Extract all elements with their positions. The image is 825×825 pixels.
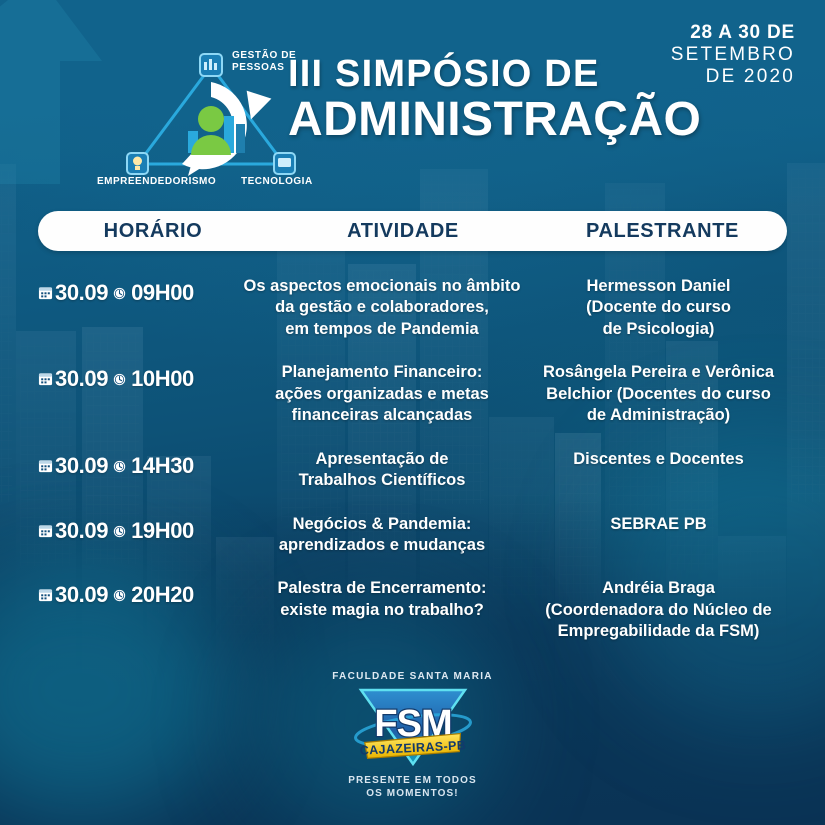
schedule-date-text: 30.09 (55, 518, 108, 544)
schedule-time-text: 20H20 (131, 582, 194, 608)
schedule-date-text: 30.09 (55, 366, 108, 392)
poster-title-block: III SIMPÓSIO DE ADMINISTRAÇÃO (288, 55, 708, 145)
column-header-palestrante: PALESTRANTE (538, 220, 787, 243)
column-header-atividade: ATIVIDADE (268, 220, 538, 243)
schedule-activity-cell: Negócios & Pandemia:aprendizados e mudan… (234, 514, 530, 557)
schedule-row: 30.0919H00Negócios & Pandemia:aprendizad… (38, 514, 787, 557)
schedule-activity-line: ações organizadas e metas (234, 384, 530, 405)
clock-icon (113, 366, 126, 392)
clock-icon (113, 280, 126, 306)
column-header-horario: HORÁRIO (38, 220, 268, 243)
schedule-speaker-cell: Discentes e Docentes (530, 449, 787, 470)
schedule-speaker-line: de Administração) (530, 405, 787, 426)
clock-icon (113, 453, 126, 479)
event-edition-title: III SIMPÓSIO DE (288, 55, 708, 93)
schedule-row: 30.0920H20Palestra de Encerramento:exist… (38, 578, 787, 642)
schedule-rows: 30.0909H00Os aspectos emocionais no âmbi… (38, 276, 787, 665)
schedule-activity-line: da gestão e colaboradores, (234, 297, 530, 318)
schedule-speaker-line: de Psicologia) (530, 319, 787, 340)
schedule-activity-line: aprendizados e mudanças (234, 535, 530, 556)
schedule-time-cell: 30.0920H20 (38, 578, 234, 608)
schedule-speaker-line: Empregabilidade da FSM) (530, 621, 787, 642)
event-date-month: SETEMBRO (671, 44, 795, 66)
schedule-speaker-line: Hermesson Daniel (530, 276, 787, 297)
calendar-icon (38, 582, 53, 608)
schedule-speaker-line: Discentes e Docentes (530, 449, 787, 470)
schedule-activity-line: Planejamento Financeiro: (234, 362, 530, 383)
logo-label-empreendedorismo: EMPREENDEDORISMO (97, 176, 216, 186)
schedule-speaker-cell: Rosângela Pereira e VerônicaBelchior (Do… (530, 362, 787, 426)
schedule-speaker-line: Belchior (Docentes do curso (530, 384, 787, 405)
schedule-speaker-cell: Hermesson Daniel(Docente do cursode Psic… (530, 276, 787, 340)
poster-canvas: GESTÃO DE PESSOAS EMPREENDEDORISMO TECNO… (0, 0, 825, 825)
schedule-time-cell: 30.0919H00 (38, 514, 234, 544)
schedule-time-cell: 30.0909H00 (38, 276, 234, 306)
schedule-date-text: 30.09 (55, 582, 108, 608)
event-date-days: 28 A 30 DE (671, 22, 795, 44)
fsm-slogan-line-1: PRESENTE EM TODOS (348, 775, 477, 788)
schedule-time-text: 19H00 (131, 518, 194, 544)
schedule-activity-line: Negócios & Pandemia: (234, 514, 530, 535)
logo-label-gestao-l2: PESSOAS (232, 62, 285, 73)
schedule-time-text: 14H30 (131, 453, 194, 479)
schedule-speaker-line: (Docente do curso (530, 297, 787, 318)
schedule-activity-line: Apresentação de (234, 449, 530, 470)
schedule-activity-line: Palestra de Encerramento: (234, 578, 530, 599)
schedule-time-cell: 30.0910H00 (38, 362, 234, 392)
schedule-speaker-line: Rosângela Pereira e Verônica (530, 362, 787, 383)
fsm-footer-logo: FACULDADE SANTA MARIA FSM CAJAZEIRAS-PB … (0, 671, 825, 801)
event-date-block: 28 A 30 DE SETEMBRO DE 2020 (671, 22, 795, 88)
poster-header: GESTÃO DE PESSOAS EMPREENDEDORISMO TECNO… (0, 0, 825, 196)
schedule-activity-cell: Apresentação deTrabalhos Científicos (234, 449, 530, 492)
schedule-activity-line: em tempos de Pandemia (234, 319, 530, 340)
schedule-date-text: 30.09 (55, 280, 108, 306)
event-subject-title: ADMINISTRAÇÃO (288, 95, 708, 145)
calendar-icon (38, 518, 53, 544)
schedule-activity-line: Trabalhos Científicos (234, 470, 530, 491)
event-date-year: DE 2020 (671, 66, 795, 88)
schedule-row: 30.0914H30Apresentação deTrabalhos Cient… (38, 449, 787, 492)
schedule-column-headers: HORÁRIO ATIVIDADE PALESTRANTE (38, 211, 787, 251)
schedule-activity-line: existe magia no trabalho? (234, 600, 530, 621)
schedule-time-text: 10H00 (131, 366, 194, 392)
schedule-row: 30.0909H00Os aspectos emocionais no âmbi… (38, 276, 787, 340)
fsm-slogan-line-2: OS MOMENTOS! (348, 788, 477, 801)
schedule-activity-cell: Os aspectos emocionais no âmbitoda gestã… (234, 276, 530, 340)
clock-icon (113, 582, 126, 608)
logo-label-tecnologia: TECNOLOGIA (241, 176, 313, 186)
logo-label-gestao-l1: GESTÃO DE (232, 48, 296, 61)
schedule-speaker-line: SEBRAE PB (530, 514, 787, 535)
schedule-date-text: 30.09 (55, 453, 108, 479)
calendar-icon (38, 366, 53, 392)
schedule-speaker-line: (Coordenadora do Núcleo de (530, 600, 787, 621)
fsm-institution-name: FACULDADE SANTA MARIA (332, 671, 493, 682)
schedule-time-text: 09H00 (131, 280, 194, 306)
calendar-icon (38, 453, 53, 479)
calendar-icon (38, 280, 53, 306)
schedule-speaker-cell: Andréia Braga(Coordenadora do Núcleo deE… (530, 578, 787, 642)
fsm-slogan: PRESENTE EM TODOS OS MOMENTOS! (348, 775, 477, 801)
schedule-activity-line: financeiras alcançadas (234, 405, 530, 426)
schedule-speaker-cell: SEBRAE PB (530, 514, 787, 535)
fsm-shield-mark: FSM CAJAZEIRAS-PB (351, 684, 475, 770)
schedule-activity-cell: Planejamento Financeiro:ações organizada… (234, 362, 530, 426)
schedule-activity-cell: Palestra de Encerramento:existe magia no… (234, 578, 530, 621)
clock-icon (113, 518, 126, 544)
schedule-activity-line: Os aspectos emocionais no âmbito (234, 276, 530, 297)
schedule-speaker-line: Andréia Braga (530, 578, 787, 599)
schedule-row: 30.0910H00Planejamento Financeiro:ações … (38, 362, 787, 426)
schedule-time-cell: 30.0914H30 (38, 449, 234, 479)
